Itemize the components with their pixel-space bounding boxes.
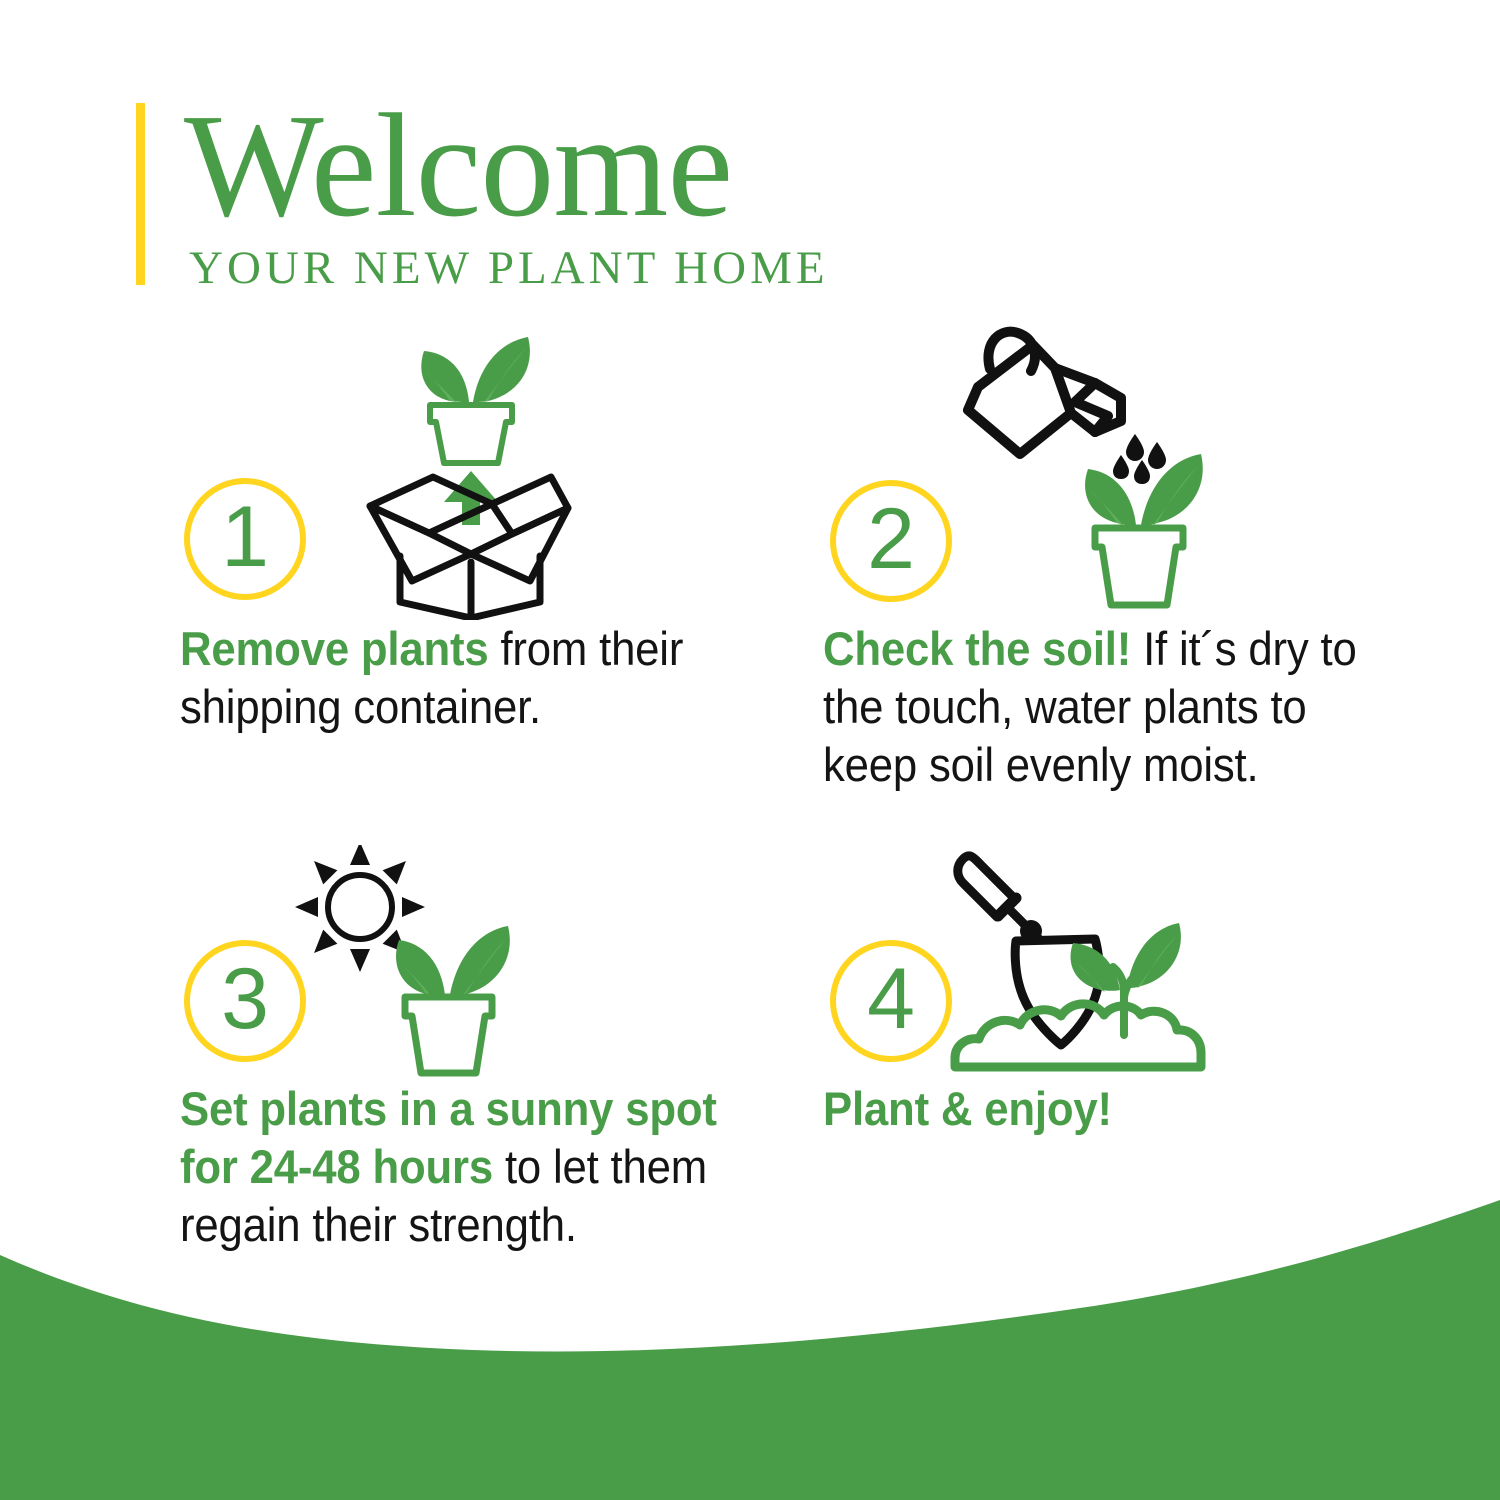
page-header: Welcome YOUR NEW PLANT HOME — [136, 100, 1036, 290]
step-4-caption: Plant & enjoy! — [823, 1080, 1400, 1138]
step-number: 3 — [184, 940, 306, 1062]
plant-leaves-icon — [421, 337, 530, 402]
flower-pot-icon — [405, 997, 492, 1073]
step-number: 2 — [830, 480, 952, 602]
watering-can-icon — [968, 332, 1121, 454]
accent-bar — [136, 103, 145, 285]
step-1-caption-highlight: Remove plants — [180, 622, 489, 675]
infographic-page: Welcome YOUR NEW PLANT HOME 1 — [0, 0, 1500, 1500]
flower-pot-icon — [430, 405, 512, 463]
page-title: Welcome — [184, 100, 829, 232]
soil-mound-icon — [955, 1004, 1201, 1067]
step-2-caption-highlight: Check the soil! — [823, 622, 1131, 675]
sun-with-plant-illustration — [295, 845, 625, 1080]
step-4-caption-highlight: Plant & enjoy! — [823, 1082, 1112, 1135]
step-1-badge: 1 — [184, 478, 306, 600]
trowel-with-seedling-illustration — [943, 845, 1283, 1080]
step-number: 1 — [184, 478, 306, 600]
step-2: 2 — [823, 320, 1443, 794]
step-1-icon-area: 1 — [180, 330, 780, 620]
box-body-icon — [400, 556, 540, 618]
step-3: 3 — [180, 845, 780, 1254]
step-3-icon-area: 3 — [180, 845, 780, 1080]
step-4-badge: 4 — [830, 940, 952, 1062]
step-1: 1 — [180, 330, 780, 736]
wave-shape — [0, 1200, 1500, 1500]
step-1-caption: Remove plants from their shipping contai… — [180, 620, 738, 736]
water-drops-icon — [1113, 434, 1166, 484]
step-4: 4 — [823, 845, 1443, 1138]
flower-pot-icon — [1095, 528, 1183, 605]
watering-can-with-plant-illustration — [943, 320, 1323, 620]
open-box-with-plant-illustration — [340, 330, 600, 620]
title-block: Welcome YOUR NEW PLANT HOME — [184, 100, 829, 296]
step-number: 4 — [830, 940, 952, 1062]
step-2-icon-area: 2 — [823, 320, 1443, 620]
step-3-badge: 3 — [184, 940, 306, 1062]
step-2-caption: Check the soil! If it´s dry to the touch… — [823, 620, 1400, 794]
footer-wave-decoration — [0, 1200, 1500, 1500]
step-2-badge: 2 — [830, 480, 952, 602]
step-4-icon-area: 4 — [823, 845, 1443, 1080]
plant-leaves-icon — [396, 926, 510, 996]
page-subtitle: YOUR NEW PLANT HOME — [189, 240, 829, 296]
